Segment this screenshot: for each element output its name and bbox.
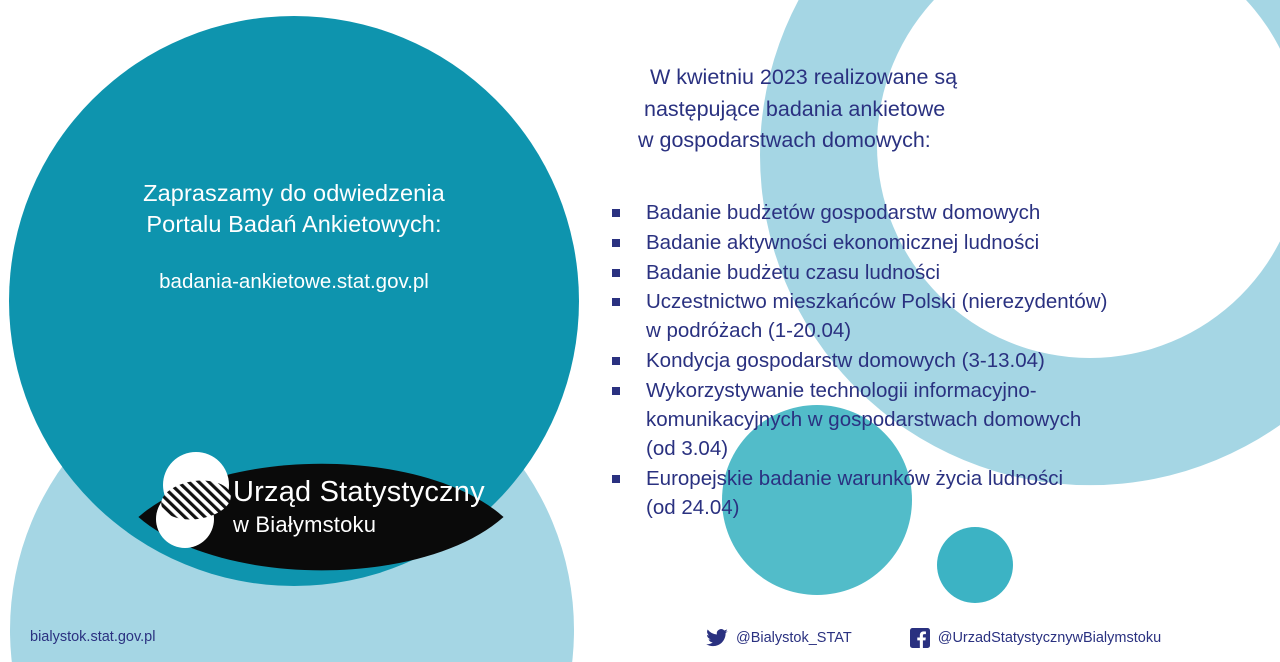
site-url[interactable]: bialystok.stat.gov.pl [30,629,155,645]
bullet-square-icon [612,239,620,247]
survey-list-item: Badanie aktywności ekonomicznej ludności [612,229,1212,258]
logo-org-line-2: w Białymstoku [232,512,376,537]
social-link-twitter[interactable]: @Bialystok_STAT [706,629,852,647]
bullet-square-icon [612,475,620,483]
left-panel-copy: Zapraszamy do odwiedzenia Portalu Badań … [64,178,524,296]
survey-list-item-label: Badanie budżetu czasu ludności [646,259,940,288]
survey-list-item: Kondycja gospodarstw domowych (3-13.04) [612,347,1212,376]
survey-list-item-label: Kondycja gospodarstw domowych (3-13.04) [646,347,1045,376]
twitter-icon [706,629,728,647]
right-panel-heading: W kwietniu 2023 realizowane są następują… [650,62,1212,157]
infographic-slide: Zapraszamy do odwiedzenia Portalu Badań … [0,0,1280,662]
survey-list-item-label: Badanie aktywności ekonomicznej ludności [646,229,1039,258]
bullet-square-icon [612,209,620,217]
invite-line-2: Portalu Badań Ankietowych: [64,209,524,240]
bullet-square-icon [612,357,620,365]
survey-list-item: Europejskie badanie warunków życia ludno… [612,465,1212,523]
survey-list-item: Badanie budżetów gospodarstw domowych [612,199,1212,228]
survey-list-item-label: Badanie budżetów gospodarstw domowych [646,199,1040,228]
twitter-handle: @Bialystok_STAT [736,630,852,646]
survey-list-item: Wykorzystywanie technologii informacyjno… [612,377,1212,464]
logo-org-line-1: Urząd Statystyczny [233,476,485,508]
bullet-square-icon [612,298,620,306]
facebook-icon [910,628,930,648]
facebook-handle: @UrzadStatystycznywBialymstoku [938,630,1161,646]
portal-url[interactable]: badania-ankietowe.stat.gov.pl [64,269,524,296]
survey-list-item-label: Europejskie badanie warunków życia ludno… [646,465,1063,523]
bullet-square-icon [612,387,620,395]
right-panel: W kwietniu 2023 realizowane są następują… [612,62,1212,524]
survey-list-item-label: Uczestnictwo mieszkańców Polski (nierezy… [646,288,1107,346]
survey-list-item: Badanie budżetu czasu ludności [612,259,1212,288]
social-link-facebook[interactable]: @UrzadStatystycznywBialymstoku [910,628,1161,648]
social-links: @Bialystok_STAT @UrzadStatystycznywBialy… [706,628,1161,648]
heading-line-2: następujące badania ankietowe [644,94,1212,126]
heading-line-3: w gospodarstwach domowych: [638,125,1212,157]
heading-line-1: W kwietniu 2023 realizowane są [650,62,1212,94]
survey-list: Badanie budżetów gospodarstw domowychBad… [612,199,1212,523]
invite-line-1: Zapraszamy do odwiedzenia [64,178,524,209]
survey-list-item-label: Wykorzystywanie technologii informacyjno… [646,377,1081,464]
survey-list-item: Uczestnictwo mieszkańców Polski (nierezy… [612,288,1212,346]
bullet-square-icon [612,269,620,277]
